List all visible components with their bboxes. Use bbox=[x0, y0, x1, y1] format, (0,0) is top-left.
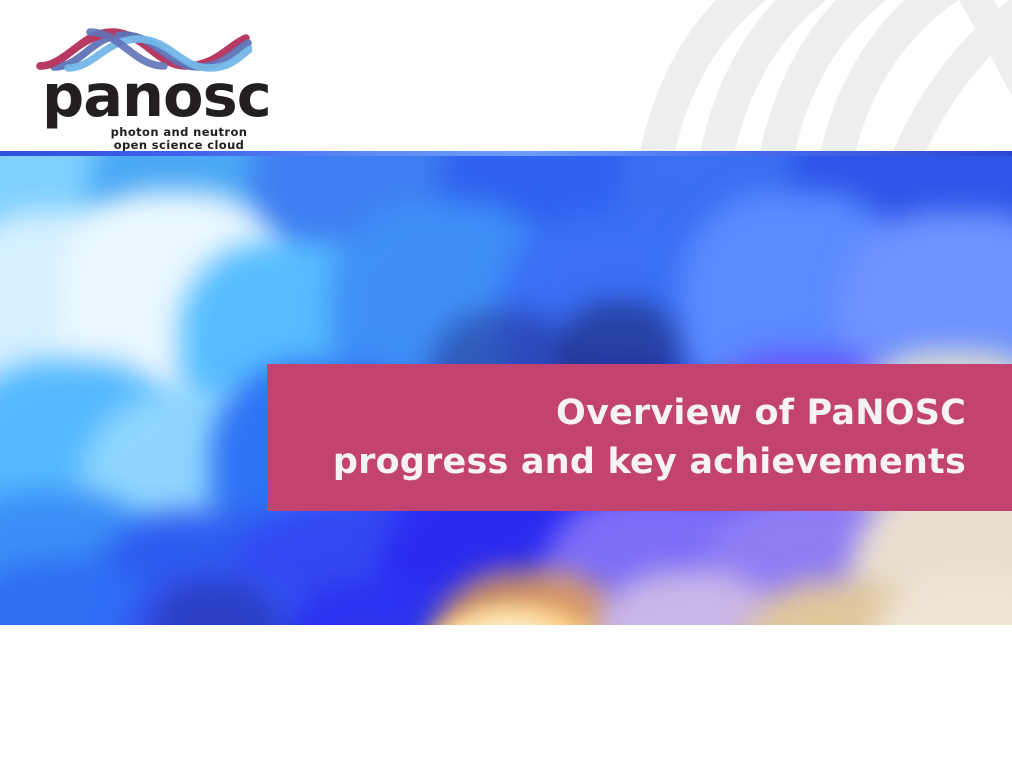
header-watermark-swoosh-icon bbox=[632, 0, 1012, 151]
title-banner: Overview of PaNOSC progress and key achi… bbox=[267, 364, 1012, 511]
title-line-1: Overview of PaNOSC bbox=[556, 389, 966, 438]
slide-header: panosc photon and neutron open science c… bbox=[0, 0, 1012, 151]
panosc-tagline: photon and neutron open science cloud bbox=[94, 126, 264, 151]
hero-top-rule bbox=[0, 151, 1012, 156]
slide-footer: Coordinator: Partners: bbox=[0, 625, 1012, 758]
panosc-wordmark: panosc bbox=[42, 66, 271, 125]
slide: panosc photon and neutron open science c… bbox=[0, 0, 1012, 758]
panosc-logo: panosc photon and neutron open science c… bbox=[22, 22, 272, 140]
hero-image: Overview of PaNOSC progress and key achi… bbox=[0, 151, 1012, 625]
title-line-2: progress and key achievements bbox=[333, 438, 966, 487]
panosc-tagline-line2: open science cloud bbox=[114, 138, 245, 152]
